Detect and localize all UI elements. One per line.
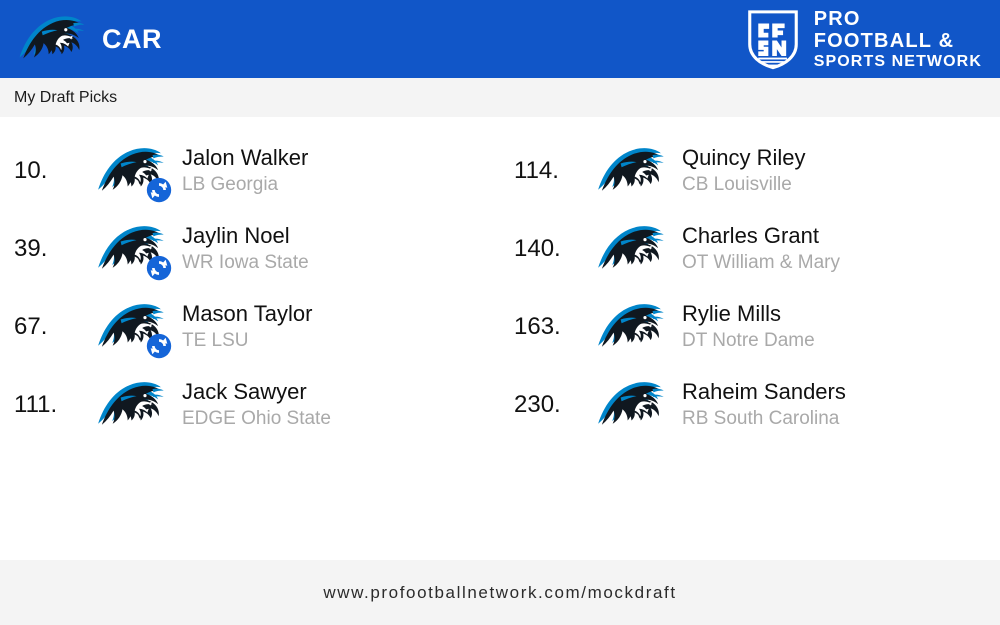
pfn-wordmark-line-1: PRO [814,9,982,29]
pick-team-logo-wrap [92,297,168,357]
player-position-school: OT William & Mary [682,251,840,275]
panthers-logo-icon [92,375,168,435]
pfn-wordmark-line-3: SPORTS NETWORK [814,54,982,70]
player-name: Jalon Walker [182,145,308,171]
draft-pick-row[interactable]: 163. Rylie MillsDT Notre Dame [514,288,1000,366]
draft-pick-row[interactable]: 230. Raheim SandersRB South Carolina [514,366,1000,444]
player-name: Jaylin Noel [182,223,309,249]
page-header: CAR PRO FOOTBALL & SPORTS NETWORK [0,0,1000,78]
pick-team-logo-wrap [92,141,168,201]
player-name: Mason Taylor [182,301,312,327]
pick-team-logo-wrap [92,219,168,279]
pick-number: 10. [14,157,92,185]
pick-team-logo-wrap [92,375,168,435]
pick-number: 114. [514,157,592,185]
pfn-shield-icon [745,8,801,70]
panthers-logo-icon [592,219,668,279]
pick-details: Raheim SandersRB South Carolina [682,379,846,431]
player-name: Rylie Mills [682,301,815,327]
pick-number: 140. [514,235,592,263]
pick-details: Rylie MillsDT Notre Dame [682,301,815,353]
pick-team-logo-wrap [592,297,668,357]
pick-team-logo-wrap [592,375,668,435]
mock-draft-results-page: CAR PRO FOOTBALL & SPORTS NETWORK [0,0,1000,625]
player-position-school: LB Georgia [182,173,308,197]
player-position-school: CB Louisville [682,173,805,197]
pick-team-logo-wrap [592,141,668,201]
pfn-wordmark: PRO FOOTBALL & SPORTS NETWORK [814,9,982,70]
draft-pick-row[interactable]: 39. Jaylin NoelWR Iowa State [14,210,500,288]
pick-number: 230. [514,391,592,419]
player-position-school: TE LSU [182,329,312,353]
pick-details: Charles GrantOT William & Mary [682,223,840,275]
draft-pick-row[interactable]: 140. Charles GrantOT William & Mary [514,210,1000,288]
player-name: Charles Grant [682,223,840,249]
footer-url: www.profootballnetwork.com/mockdraft [323,583,676,603]
draft-picks-area: 10. Jalon WalkerLB Georgia39. Jayl [0,118,1000,560]
player-position-school: RB South Carolina [682,407,846,431]
draft-pick-row[interactable]: 114. Quincy RileyCB Louisville [514,132,1000,210]
pick-details: Quincy RileyCB Louisville [682,145,805,197]
page-footer: www.profootballnetwork.com/mockdraft [0,560,1000,625]
team-abbreviation: CAR [102,24,162,55]
pick-number: 163. [514,313,592,341]
team-identity: CAR [14,8,162,70]
pick-details: Jack SawyerEDGE Ohio State [182,379,331,431]
panthers-logo-icon [592,141,668,201]
panthers-logo-icon [14,8,88,70]
pick-details: Jalon WalkerLB Georgia [182,145,308,197]
pick-details: Mason TaylorTE LSU [182,301,312,353]
draft-picks-column-left: 10. Jalon WalkerLB Georgia39. Jayl [0,132,500,560]
draft-pick-row[interactable]: 67. Mason TaylorTE LSU [14,288,500,366]
pfn-brand-logo: PRO FOOTBALL & SPORTS NETWORK [745,8,982,70]
draft-pick-row[interactable]: 10. Jalon WalkerLB Georgia [14,132,500,210]
player-name: Quincy Riley [682,145,805,171]
player-name: Jack Sawyer [182,379,331,405]
player-position-school: WR Iowa State [182,251,309,275]
draft-pick-row[interactable]: 111. Jack SawyerEDGE Ohio State [14,366,500,444]
pick-number: 39. [14,235,92,263]
page-title: My Draft Picks [14,89,117,107]
pick-number: 67. [14,313,92,341]
pick-details: Jaylin NoelWR Iowa State [182,223,309,275]
player-position-school: DT Notre Dame [682,329,815,353]
draft-picks-column-right: 114. Quincy RileyCB Louisville140. Charl… [500,132,1000,560]
panthers-logo-icon [592,297,668,357]
section-header-bar: My Draft Picks [0,78,1000,118]
pfn-wordmark-line-2: FOOTBALL & [814,31,982,51]
player-position-school: EDGE Ohio State [182,407,331,431]
pick-team-logo-wrap [592,219,668,279]
panthers-logo-icon [592,375,668,435]
pick-number: 111. [14,391,92,419]
player-name: Raheim Sanders [682,379,846,405]
